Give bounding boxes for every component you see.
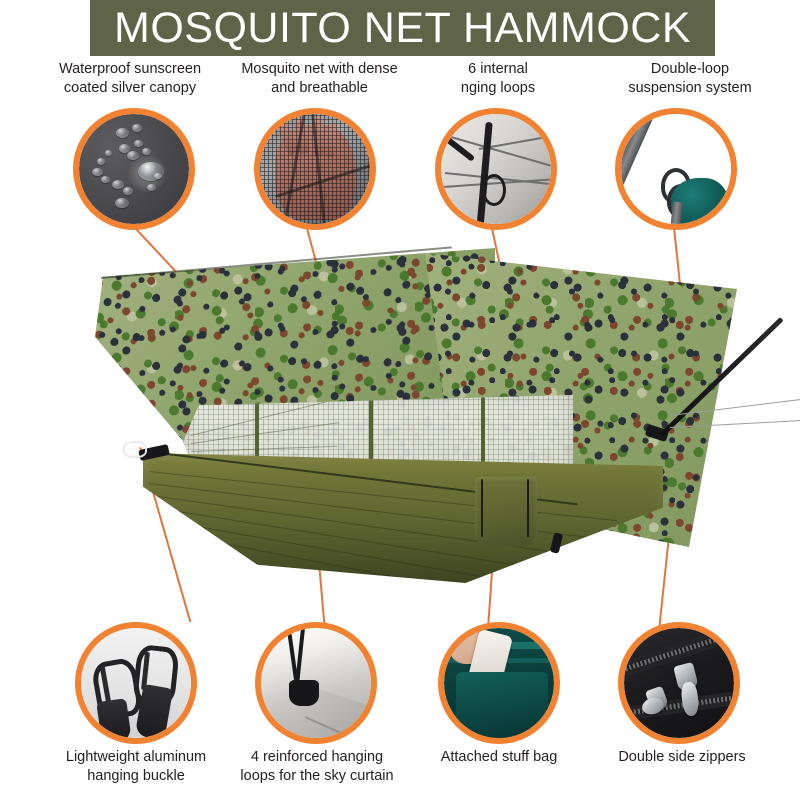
callout-label-internal-loops: 6 internal nging loops (408, 60, 588, 98)
header-band: MOSQUITO NET HAMMOCK (90, 0, 715, 56)
photo-double-side-zippers (624, 628, 734, 738)
photo-internal-hanging-loop (441, 114, 551, 224)
hanging-loop-ring (482, 174, 506, 206)
product-infographic: MOSQUITO NET HAMMOCK (0, 0, 800, 800)
callout-circle-internal-loops[interactable] (435, 108, 557, 230)
carabiner-left-webbing (96, 698, 132, 738)
photo-mosquito-mesh (260, 114, 370, 224)
water-droplet (105, 150, 112, 156)
black-webbing-strap (476, 122, 492, 224)
left-carabiner-icon (123, 441, 147, 458)
photo-attached-stuff-bag (444, 628, 554, 738)
stuff-bag-pocket (456, 672, 548, 738)
water-droplet (154, 173, 162, 179)
callout-circle-mosquito-net[interactable] (254, 108, 376, 230)
callout-circle-side-zippers[interactable] (618, 622, 740, 744)
water-droplet (112, 180, 124, 189)
reinforcement-patch (289, 680, 319, 706)
photo-double-loop-suspension (621, 114, 731, 224)
callout-label-aluminum-buckle: Lightweight aluminum hanging buckle (26, 748, 246, 786)
callout-circle-aluminum-buckle[interactable] (75, 622, 197, 744)
water-droplet (92, 168, 103, 176)
callout-circle-waterproof-canopy[interactable] (73, 108, 195, 230)
pocket-cord-right (527, 479, 529, 537)
photo-waterproof-fabric (79, 114, 189, 224)
attached-stuff-bag-pocket (475, 477, 537, 547)
water-droplet (127, 151, 139, 160)
hammock-body-fabric (143, 453, 663, 583)
suspension-strap (621, 114, 656, 189)
photo-aluminum-carabiners (81, 628, 191, 738)
water-droplet (115, 198, 129, 208)
callout-label-side-zippers: Double side zippers (592, 748, 772, 767)
callout-circle-stuff-bag[interactable] (438, 622, 560, 744)
callout-label-mosquito-net: Mosquito net with dense and breathable (212, 60, 427, 98)
reinforced-cord-2 (295, 628, 305, 688)
water-droplet (116, 128, 129, 138)
callout-label-waterproof-canopy: Waterproof sunscreen coated silver canop… (20, 60, 240, 98)
water-droplet (134, 140, 143, 147)
hammock-fold-6 (161, 531, 505, 599)
callout-label-double-loop-suspension: Double-loop suspension system (595, 60, 785, 98)
callout-circle-double-loop-suspension[interactable] (615, 108, 737, 230)
callout-circle-reinforced-loops[interactable] (255, 622, 377, 744)
hammock-product-photo (95, 255, 800, 625)
water-droplet (97, 158, 105, 165)
water-droplet (101, 176, 110, 183)
mesh-weave-overlay (260, 114, 370, 224)
page-title: MOSQUITO NET HAMMOCK (114, 7, 691, 50)
callout-label-reinforced-loops: 4 reinforced hanging loops for the sky c… (222, 748, 412, 786)
water-droplet (138, 162, 164, 181)
water-droplet (123, 187, 133, 195)
pocket-cord-left (481, 479, 483, 537)
water-droplet (147, 184, 156, 191)
callout-label-stuff-bag: Attached stuff bag (409, 748, 589, 767)
photo-reinforced-tarp-loops (261, 628, 371, 738)
water-droplet (142, 148, 151, 155)
water-droplet (132, 124, 142, 132)
black-webbing-strap-upper (441, 130, 475, 162)
